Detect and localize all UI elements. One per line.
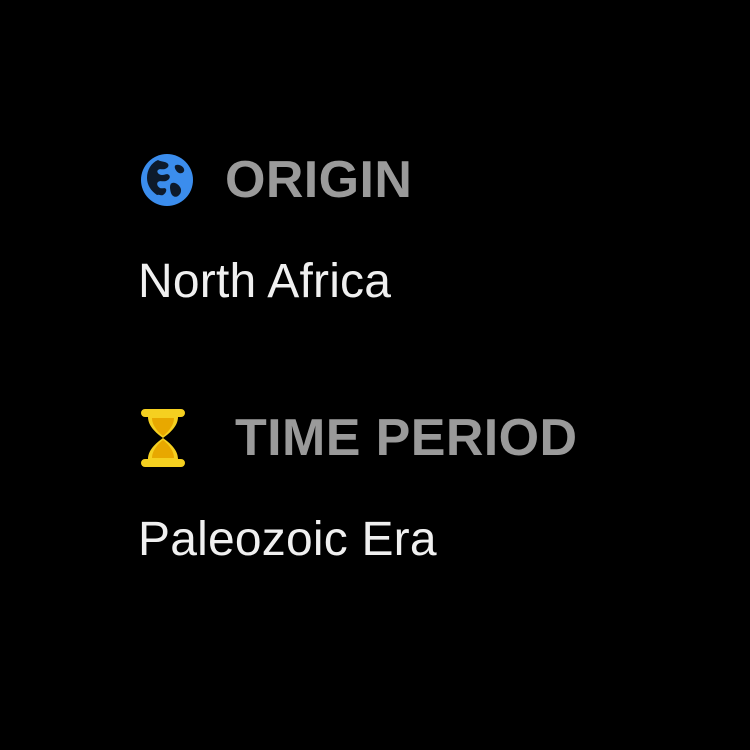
info-block-origin: ORIGIN North Africa [138,150,412,306]
info-card-screen: ORIGIN North Africa TIME PERIOD Paleozoi… [0,0,750,750]
origin-value: North Africa [138,258,412,306]
info-block-time-period: TIME PERIOD Paleozoic Era [138,408,577,564]
origin-header: ORIGIN [138,150,412,210]
time-period-header: TIME PERIOD [138,408,577,468]
globe-americas-icon [138,150,200,210]
origin-label: ORIGIN [225,154,412,206]
time-period-value: Paleozoic Era [138,516,577,564]
hourglass-icon [138,408,200,468]
time-period-label: TIME PERIOD [235,412,577,464]
